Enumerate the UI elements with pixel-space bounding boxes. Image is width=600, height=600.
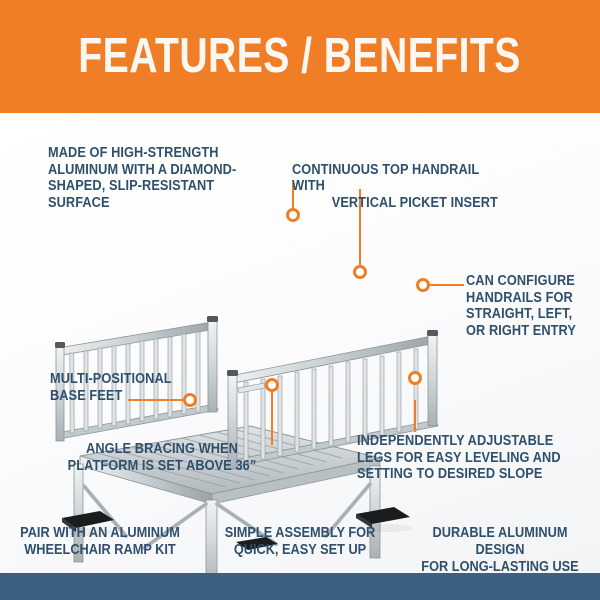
infographic-page: FEATURES / BENEFITS: [0, 0, 600, 600]
page-title: FEATURES / BENEFITS: [79, 32, 521, 81]
connector-angle-bracing: [271, 385, 273, 445]
footer-item-ramp-kit: PAIR WITH AN ALUMINUM WHEELCHAIR RAMP KI…: [12, 512, 188, 559]
marker-angle-bracing: [265, 378, 279, 392]
footer-item-durable-design: DURABLE ALUMINUM DESIGN FOR LONG-LASTING…: [412, 512, 588, 576]
callout-base-feet: MULTI-POSITIONAL BASE FEET: [50, 371, 182, 404]
callout-top-handrail-line1: CONTINUOUS TOP HANDRAIL WITH: [292, 162, 479, 195]
footer-item-simple-assembly: SIMPLE ASSEMBLY FOR QUICK, EASY SET UP: [212, 512, 388, 559]
callout-angle-bracing: ANGLE BRACING WHEN PLATFORM IS SET ABOVE…: [52, 441, 272, 474]
callout-material-surface: MADE OF HIGH-STRENGTH ALUMINUM WITH A DI…: [48, 145, 268, 211]
header-banner: FEATURES / BENEFITS: [0, 0, 600, 113]
connector-adjustable-legs: [414, 400, 416, 432]
connector-handrail-config: [428, 284, 464, 286]
marker-adjustable-legs: [408, 371, 422, 385]
callout-adjustable-legs: INDEPENDENTLY ADJUSTABLE LEGS FOR EASY L…: [357, 433, 564, 483]
footer-accent-bar: [0, 573, 600, 600]
footer-benefits-row: PAIR WITH AN ALUMINUM WHEELCHAIR RAMP KI…: [0, 512, 600, 573]
callout-handrail-config: CAN CONFIGURE HANDRAILS FOR STRAIGHT, LE…: [466, 273, 598, 339]
marker-handrail-config: [416, 278, 430, 292]
callout-top-handrail-line2: VERTICAL PICKET INSERT: [292, 195, 514, 212]
callout-top-handrail: CONTINUOUS TOP HANDRAIL WITH VERTICAL PI…: [292, 145, 514, 228]
marker-top-handrail: [353, 265, 367, 279]
marker-base-feet: [183, 393, 197, 407]
